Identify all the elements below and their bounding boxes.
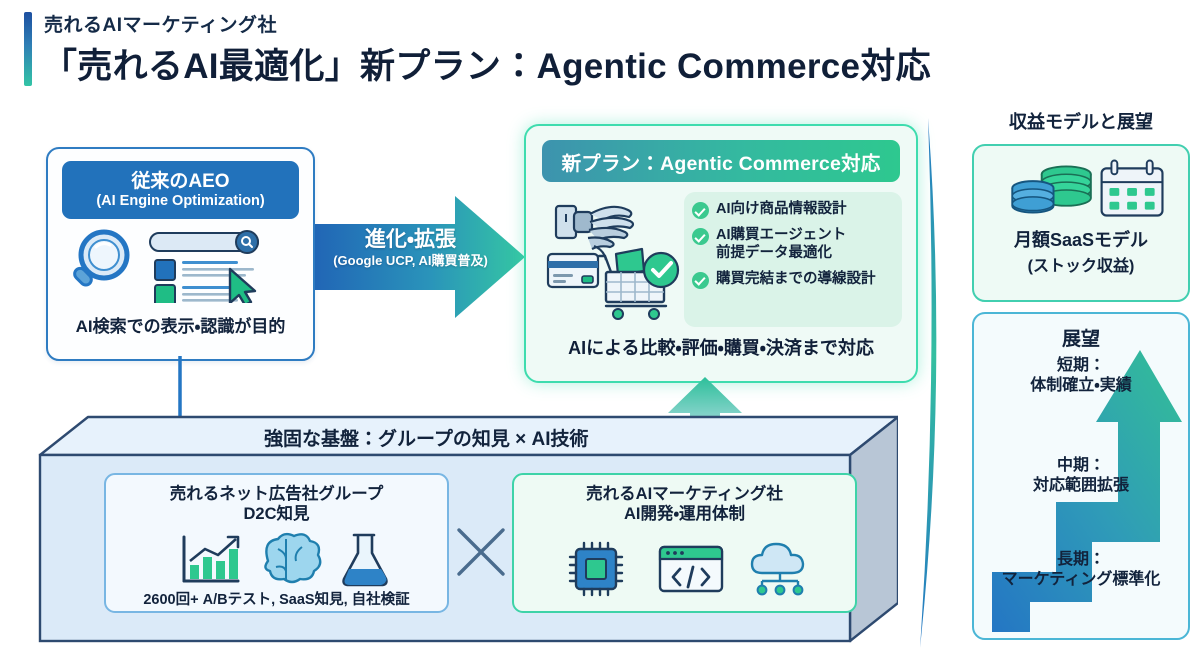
foundation-title: 強固な基盤：グループの知見 × AI技術 [264,424,589,451]
list-item: AI向け商品情報設計 [692,200,896,219]
ai-dev-icons [514,537,855,599]
foundation-panel-d2c[interactable]: 売れるネット広告社グループ D2C知見 2600回 [104,473,449,613]
magnifier-icon [72,232,127,287]
checklist-text: 購買完結までの導線設計 [716,270,876,288]
check-icon [692,272,709,289]
search-bar-icon [150,231,258,253]
checklist-text: AI向け商品情報設計 [716,200,847,218]
saas-subtitle: (ストック収益) [974,252,1188,276]
panel-heading-line1: 売れるネット広告社グループ [170,485,384,503]
panel-heading-line2: D2C知見 [243,505,309,523]
page-title: 「売れるAI最適化」新プラン：Agentic Commerce対応 [42,38,931,89]
panel-caption: 2600回+ A/Bテスト, SaaS知見, 自社検証 [106,588,447,609]
page-header: 売れるAIマーケティング社 「売れるAI最適化」新プラン：Agentic Com… [0,0,1200,102]
panel-heading: 売れるネット広告社グループ D2C知見 [106,484,447,524]
foundation-panel-ai-dev[interactable]: 売れるAIマーケティング社 AI開発・運用体制 [512,473,857,613]
outlook-step-detail: マーケティング標準化 [974,570,1188,590]
outlook-step-long: 長期： マーケティング標準化 [974,550,1188,589]
flask-icon [344,535,387,585]
calendar-icon [1102,161,1163,216]
saas-illustration [974,158,1188,220]
code-window-icon [660,547,722,591]
chip-icon [570,543,622,595]
outlook-step-detail: 対応範囲拡張 [974,476,1188,496]
section-divider [908,118,956,648]
multiply-icon [452,523,510,581]
check-circle-icon [644,253,678,287]
aeo-badge-subtitle: (AI Engine Optimization) [96,193,264,209]
new-plan-card[interactable]: 新プラン：Agentic Commerce対応 [524,124,918,383]
aeo-badge: 従来のAEO (AI Engine Optimization) [62,161,299,219]
list-item: 購買完結までの導線設計 [692,270,896,289]
saas-model-card[interactable]: 月額SaaSモデル (ストック収益) [972,144,1190,302]
new-plan-checklist: AI向け商品情報設計 AI購買エージェント 前提データ最適化 購買完結までの導線… [684,192,902,327]
d2c-icons [106,531,447,589]
outlook-step-term: 長期： [974,550,1188,570]
aeo-illustration [58,225,303,303]
panel-heading: 売れるAIマーケティング社 AI開発・運用体制 [514,484,855,524]
evolution-arrow [315,196,525,318]
outlook-step-term: 中期： [974,456,1188,476]
new-plan-header: 新プラン：Agentic Commerce対応 [542,140,900,182]
company-name: 売れるAIマーケティング社 [44,10,277,37]
outlook-title: 展望 [974,324,1188,351]
outlook-card[interactable]: 展望 短期： 体制確立・実績 中期： 対応範囲拡張 長期： マーケティング標準化 [972,312,1190,640]
checklist-text: AI購買エージェント 前提データ最適化 [716,226,846,263]
panel-heading-line1: 売れるAIマーケティング社 [586,485,783,503]
right-column-title: 収益モデルと展望 [962,108,1200,134]
panel-heading-line2: AI開発・運用体制 [624,505,745,523]
infographic-canvas: 売れるAIマーケティング社 「売れるAI最適化」新プラン：Agentic Com… [0,0,1200,655]
bar-chart-icon [184,537,238,581]
list-item: AI購買エージェント 前提データ最適化 [692,226,896,263]
outlook-step-short: 短期： 体制確立・実績 [974,356,1188,395]
aeo-badge-title: 従来のAEO [131,171,229,192]
aeo-caption: AI検索での表示・認識が目的 [48,312,313,337]
saas-title: 月額SaaSモデル [974,226,1188,252]
cloud-network-icon [752,544,803,594]
box-side-face [850,417,898,641]
outlook-step-detail: 体制確立・実績 [974,376,1188,396]
aeo-card[interactable]: 従来のAEO (AI Engine Optimization) [46,147,315,361]
agentic-commerce-illustration [544,192,694,320]
outlook-step-term: 短期： [974,356,1188,376]
check-icon [692,202,709,219]
new-plan-footer: AIによる比較・評価・購買・決済まで対応 [526,334,916,360]
check-icon [692,228,709,245]
brain-icon [265,534,320,582]
header-accent-bar [24,12,32,86]
outlook-step-mid: 中期： 対応範囲拡張 [974,456,1188,495]
credit-card-icon [548,254,598,287]
coin-stack-icon [1012,166,1091,212]
